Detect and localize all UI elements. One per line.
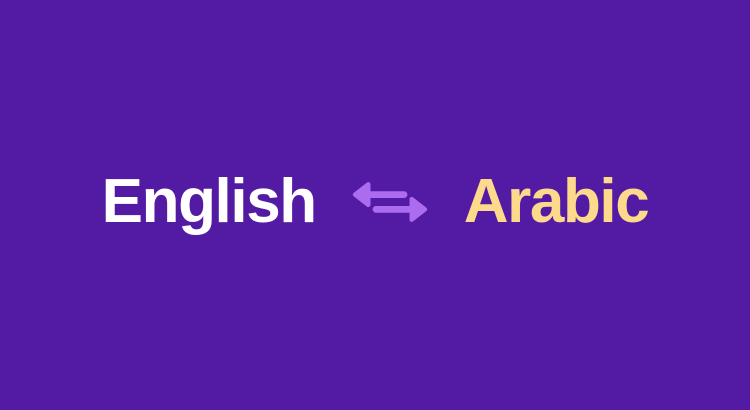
- swap-arrows-icon: [352, 182, 428, 222]
- language-pair-banner: English Arabic: [0, 0, 750, 410]
- source-language-label: English: [102, 171, 316, 233]
- target-language-label: Arabic: [464, 171, 649, 233]
- language-pair-row: English Arabic: [102, 171, 649, 233]
